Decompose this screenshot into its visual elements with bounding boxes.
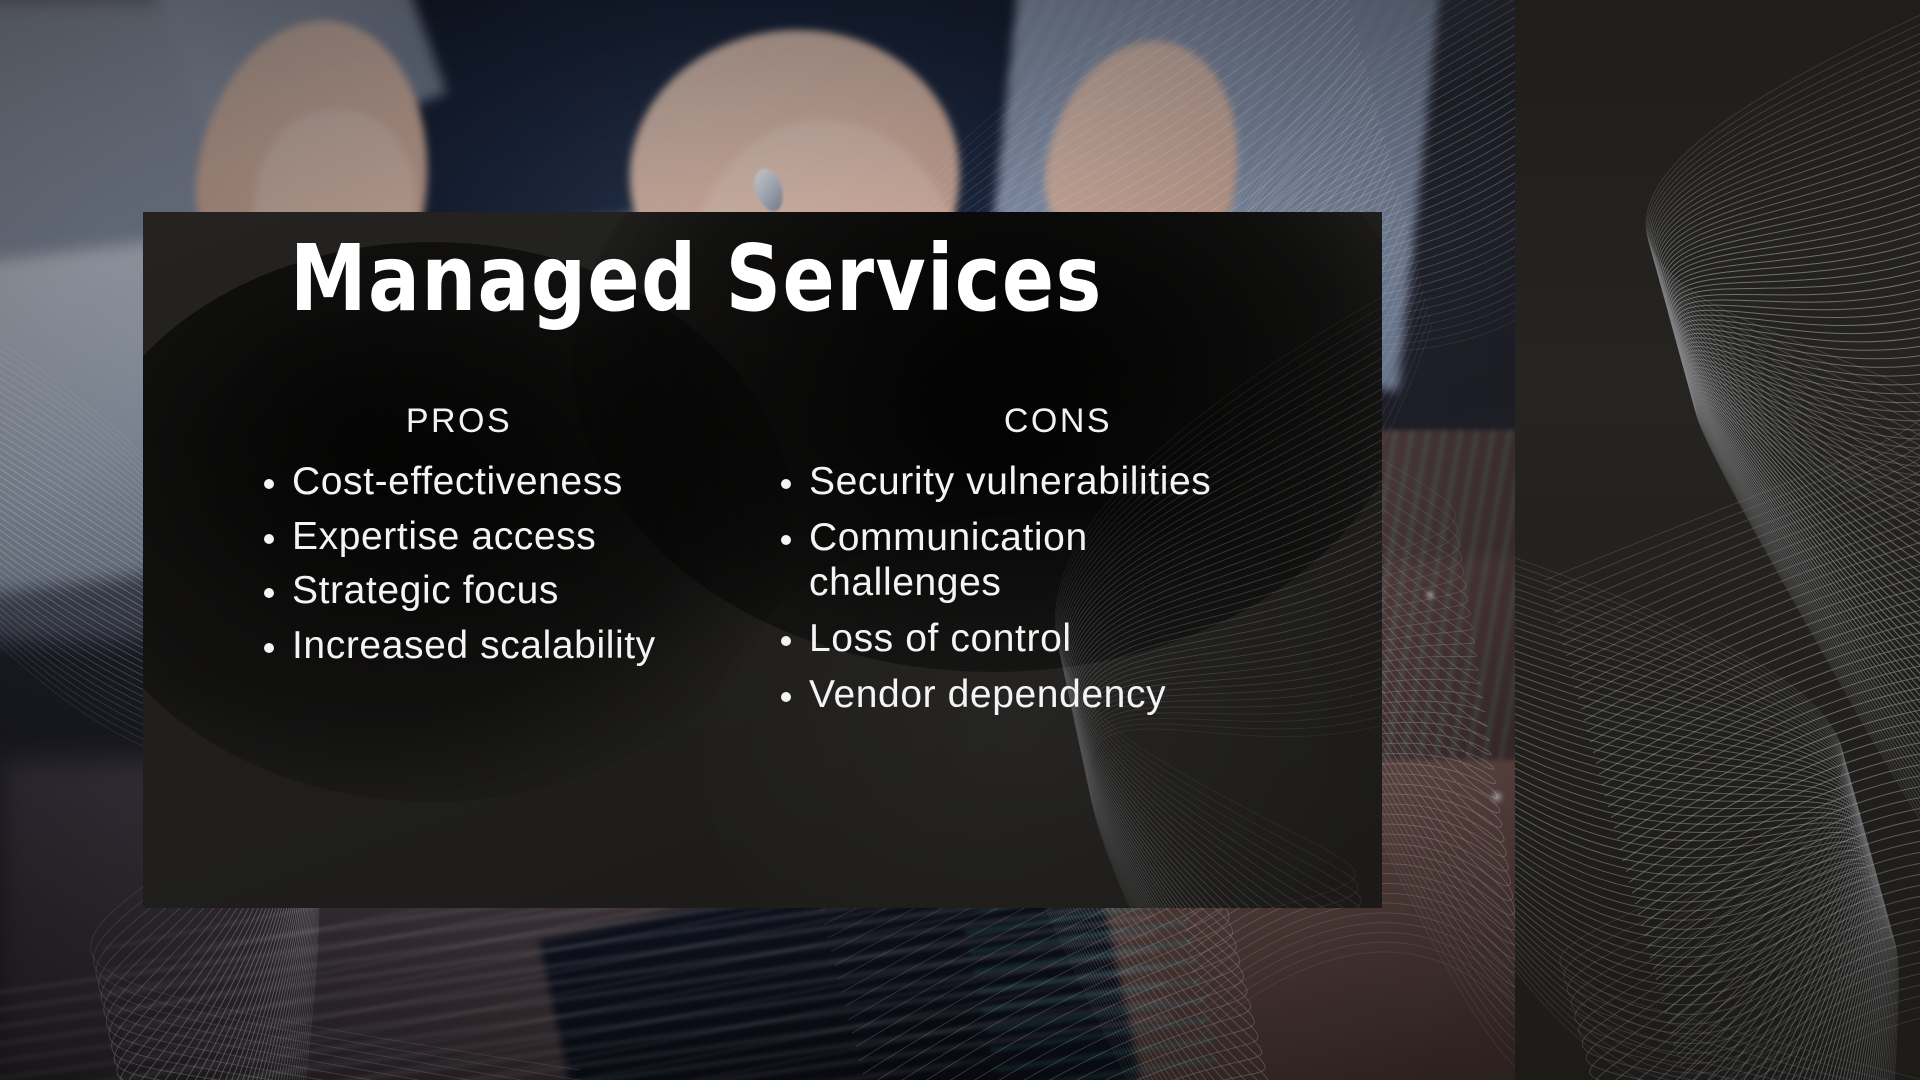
contour-decor-panel-top <box>1515 0 1920 600</box>
list-item: Security vulnerabilities <box>775 459 1363 505</box>
list-item: Increased scalability <box>258 623 743 669</box>
list-item: Strategic focus <box>258 568 743 614</box>
list-item: Communication challenges <box>775 515 1105 606</box>
column-cons: CONS Security vulnerabilities Communicat… <box>743 402 1363 727</box>
content-card: Managed Services PROS Cost-effectiveness… <box>143 212 1382 908</box>
list-item: Vendor dependency <box>775 672 1363 718</box>
column-header-pros: PROS <box>203 402 743 441</box>
page-title: Managed Services <box>290 228 1103 329</box>
pros-cons-columns: PROS Cost-effectiveness Expertise access… <box>143 402 1382 727</box>
pros-list: Cost-effectiveness Expertise access Stra… <box>203 459 743 669</box>
column-header-cons: CONS <box>753 402 1363 441</box>
slide-canvas: Managed Services PROS Cost-effectiveness… <box>0 0 1920 1080</box>
contour-decor-panel-bottom <box>1515 430 1920 1080</box>
list-item: Cost-effectiveness <box>258 459 743 505</box>
list-item: Loss of control <box>775 616 1363 662</box>
column-pros: PROS Cost-effectiveness Expertise access… <box>143 402 743 727</box>
cons-list: Security vulnerabilities Communication c… <box>753 459 1363 717</box>
list-item: Expertise access <box>258 514 743 560</box>
right-decor-panel <box>1515 0 1920 1080</box>
